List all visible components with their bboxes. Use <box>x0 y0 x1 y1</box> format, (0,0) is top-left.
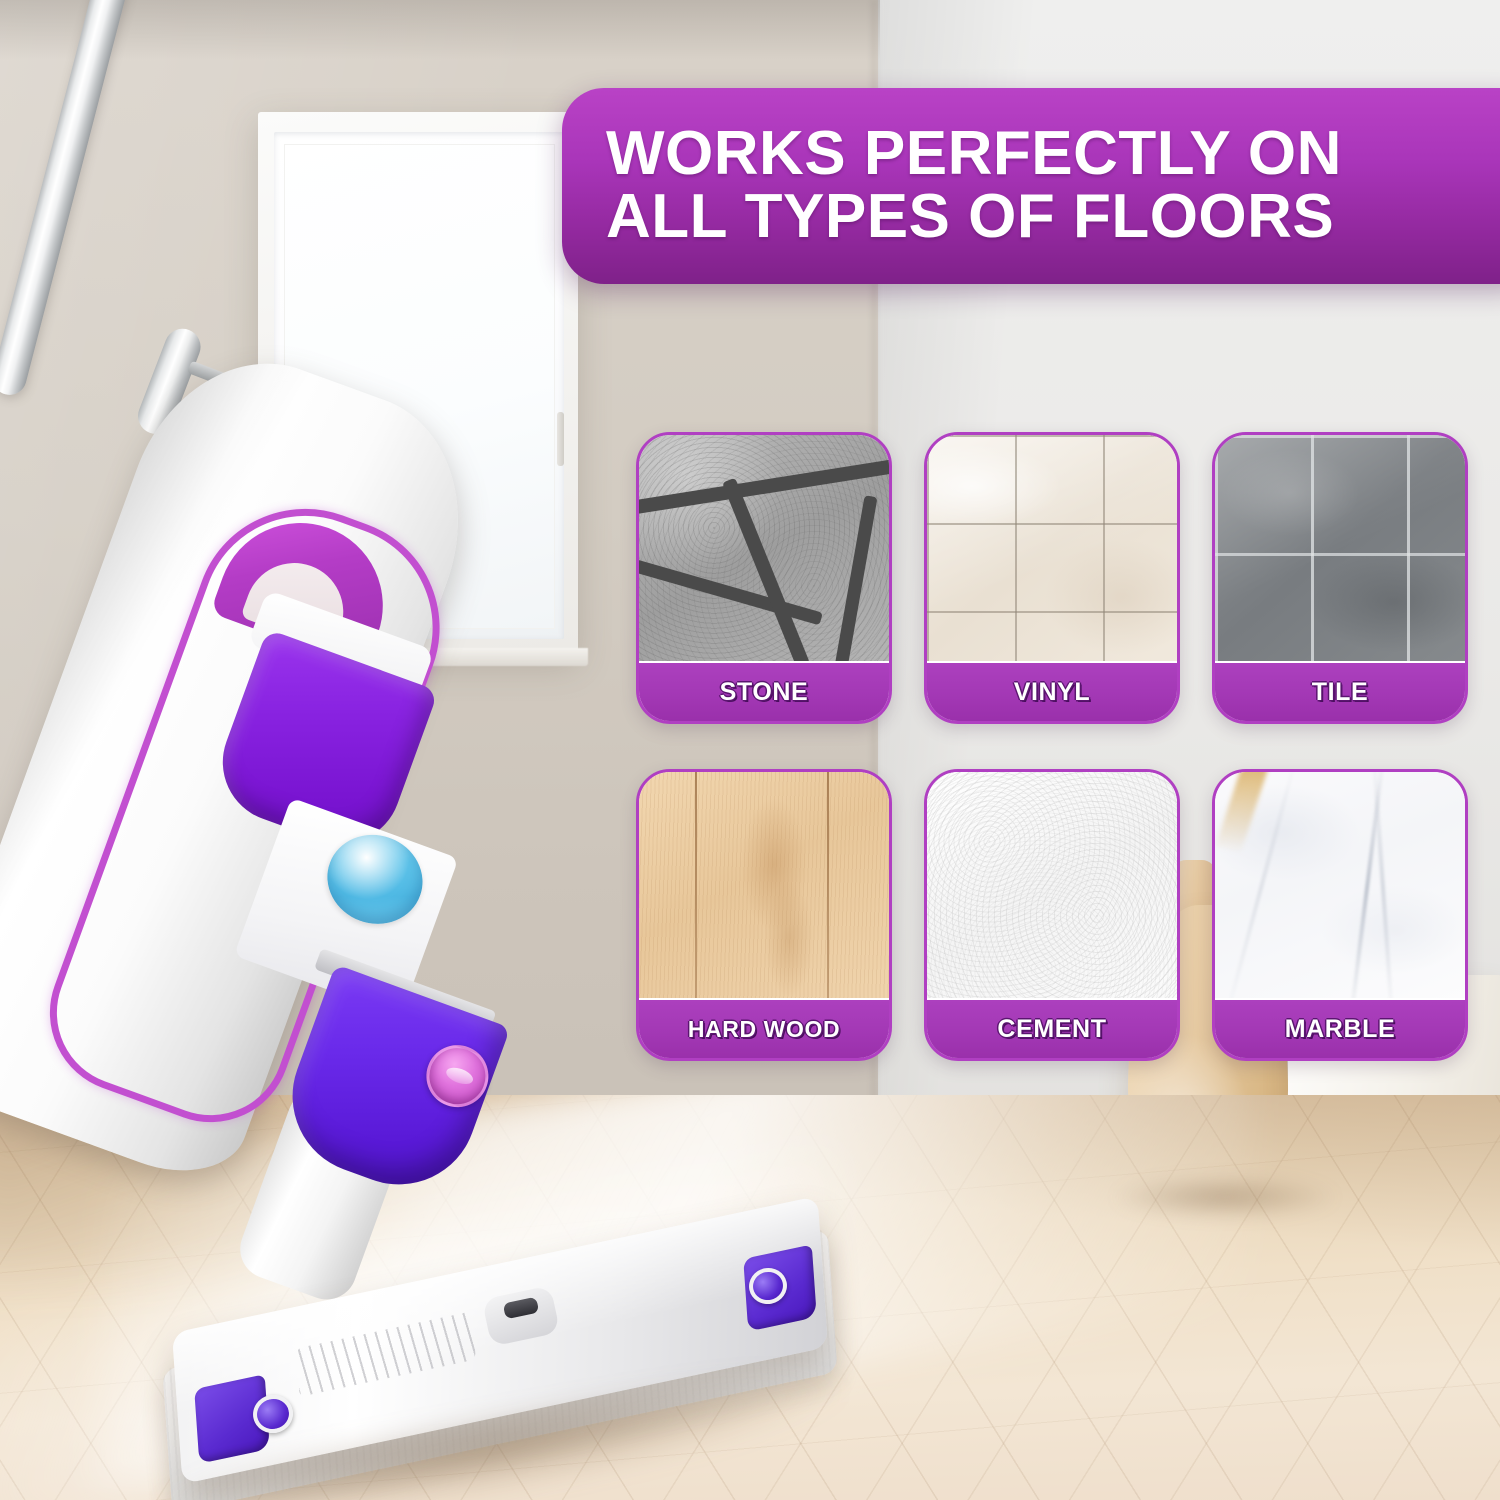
marble-texture-swatch <box>1215 772 1465 1004</box>
wood-grain-knot <box>639 772 889 1004</box>
mop-pole-upper <box>0 0 129 399</box>
stone-texture <box>639 435 889 667</box>
tile-label-band: TILE <box>1215 661 1465 721</box>
headline-line-2: ALL TYPES OF FLOORS <box>606 185 1500 248</box>
floor-type-label: VINYL <box>1014 678 1091 707</box>
floor-type-label: CEMENT <box>997 1015 1106 1044</box>
floor-type-card-hard-wood: HARD WOOD <box>636 769 892 1061</box>
floor-type-label: MARBLE <box>1285 1015 1396 1044</box>
wood-plank-seam <box>695 772 697 1004</box>
marble-label-band: MARBLE <box>1215 998 1465 1058</box>
product-marketing-image: WORKS PERFECTLY ON ALL TYPES OF FLOORS S… <box>0 0 1500 1500</box>
floor-type-card-cement: CEMENT <box>924 769 1180 1061</box>
stone-label-band: STONE <box>639 661 889 721</box>
floor-type-card-marble: MARBLE <box>1212 769 1468 1061</box>
vinyl-grout-grid <box>927 435 1177 667</box>
hard-wood-label-band: HARD WOOD <box>639 998 889 1058</box>
cement-label-band: CEMENT <box>927 998 1177 1058</box>
wood-texture <box>639 772 889 1004</box>
tile-grout-grid <box>1215 435 1465 667</box>
vinyl-texture-swatch <box>927 435 1177 667</box>
floor-type-card-vinyl: VINYL <box>924 432 1180 724</box>
floor-type-label: HARD WOOD <box>688 1016 840 1043</box>
vinyl-label-band: VINYL <box>927 661 1177 721</box>
floor-type-card-tile: TILE <box>1212 432 1468 724</box>
stone-texture-swatch <box>639 435 889 667</box>
floor-type-card-stone: STONE <box>636 432 892 724</box>
tile-texture <box>1215 435 1465 667</box>
floor-type-label: TILE <box>1312 678 1369 707</box>
wood-plank-seam <box>827 772 829 1004</box>
vinyl-texture <box>927 435 1177 667</box>
vase-shadow <box>1110 1175 1340 1219</box>
floor-type-label: STONE <box>720 678 809 707</box>
headline-banner: WORKS PERFECTLY ON ALL TYPES OF FLOORS <box>562 88 1500 284</box>
tile-texture-swatch <box>1215 435 1465 667</box>
floor-type-card-grid: STONE VINYL TILE <box>636 432 1468 1061</box>
headline-line-1: WORKS PERFECTLY ON <box>606 122 1500 185</box>
marble-texture <box>1215 772 1465 1004</box>
cement-texture-swatch <box>927 772 1177 1004</box>
cement-texture <box>927 772 1177 1004</box>
wood-texture-swatch <box>639 772 889 1004</box>
